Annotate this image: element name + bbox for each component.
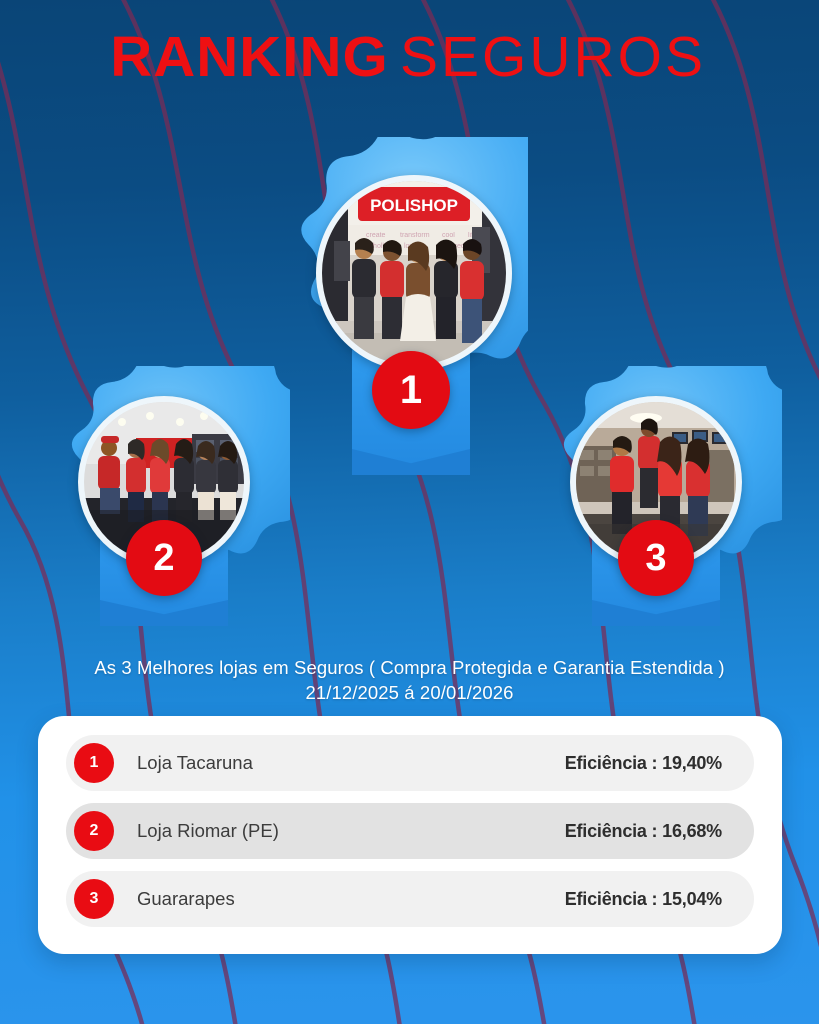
svg-text:transform: transform [400,232,430,239]
rank-circle-first: 1 [372,351,450,429]
rank-number-second: 2 [153,537,174,580]
row-efficiency-value: Eficiência : 16,68% [565,821,722,842]
row-rank-badge: 1 [74,743,114,783]
title-ranking-word: RANKING [110,24,388,90]
table-row[interactable]: 1 Loja Tacaruna Eficiência : 19,40% [66,735,754,791]
svg-text:cool: cool [442,232,455,239]
results-rows: 1 Loja Tacaruna Eficiência : 19,40% 2 Lo… [66,735,754,939]
table-row[interactable]: 2 Loja Riomar (PE) Eficiência : 16,68% [66,803,754,859]
row-rank-number: 1 [90,754,99,772]
subtitle-line-2: 21/12/2025 á 20/01/2026 [0,680,819,705]
row-rank-number: 2 [90,822,99,840]
row-store-name: Guararapes [137,888,235,910]
results-card: 1 Loja Tacaruna Eficiência : 19,40% 2 Lo… [38,716,782,954]
podium-badge-first: POLISHOP create transform cool life whol… [292,137,528,477]
svg-text:create: create [366,232,386,239]
row-store-name: Loja Riomar (PE) [137,820,279,842]
rank-number-first: 1 [400,368,422,413]
rank-circle-second: 2 [126,520,202,596]
row-rank-number: 3 [90,890,99,908]
team-photo-first: POLISHOP create transform cool life whol… [322,181,506,365]
row-store-name: Loja Tacaruna [137,752,253,774]
table-row[interactable]: 3 Guararapes Eficiência : 15,04% [66,871,754,927]
row-rank-badge: 3 [74,879,114,919]
row-efficiency-value: Eficiência : 19,40% [565,753,722,774]
podium-badge-second: 2 [38,366,290,628]
row-efficiency-value: Eficiência : 15,04% [565,889,722,910]
title-seguros-word: SEGUROS [400,24,706,90]
row-rank-badge: 2 [74,811,114,851]
subtitle-block: As 3 Melhores lojas em Seguros ( Compra … [0,655,819,705]
subtitle-line-1: As 3 Melhores lojas em Seguros ( Compra … [0,655,819,680]
rank-circle-third: 3 [618,520,694,596]
podium-badge-third: 3 [530,366,782,628]
photo-ring-first: POLISHOP create transform cool life whol… [316,175,512,371]
rank-number-third: 3 [645,537,666,580]
polishop-sign-text: POLISHOP [370,196,458,215]
poster-title: RANKINGSEGUROS [0,24,819,90]
ranking-poster: RANKINGSEGUROS [0,0,819,1024]
